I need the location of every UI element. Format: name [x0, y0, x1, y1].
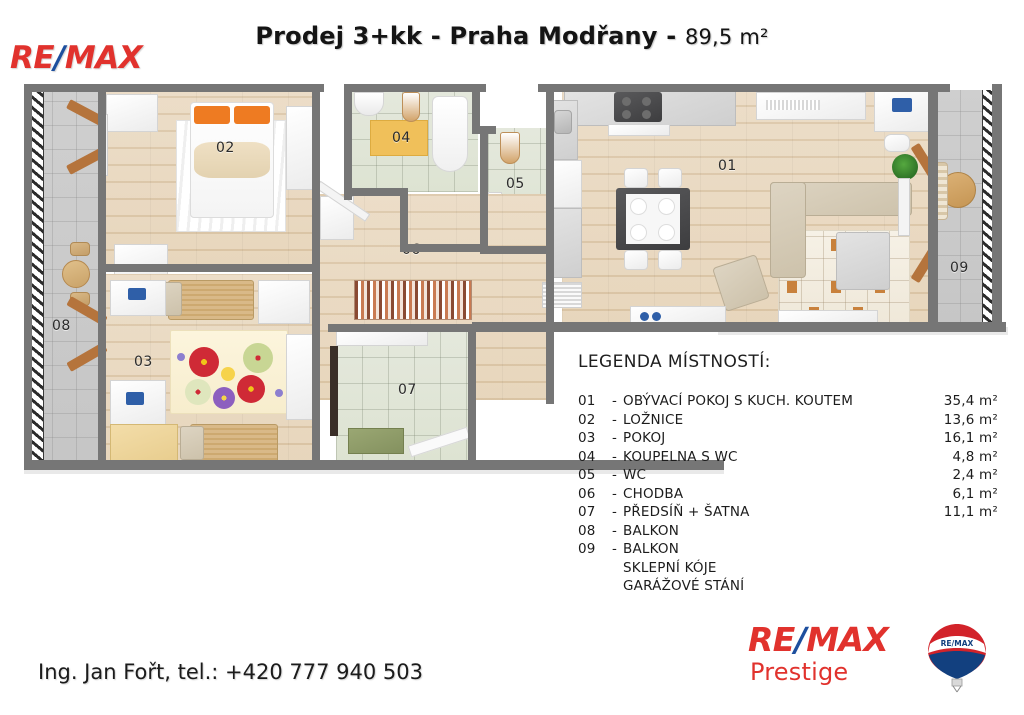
- dining-chair-4: [658, 250, 682, 270]
- wall-05-bottom: [480, 246, 554, 254]
- rug-flower-red-1: [189, 347, 219, 377]
- legend-extra-line: SKLEPNÍ KÓJE: [578, 559, 998, 578]
- balloon-label: RE/MAX: [941, 639, 974, 648]
- dining-chair-2: [658, 168, 682, 188]
- legend-extra-line: GARÁŽOVÉ STÁNÍ: [578, 577, 998, 596]
- legend-area: 6,1 m²: [932, 485, 998, 504]
- legend-code: 01: [578, 392, 612, 411]
- room-03-monitor-top: [128, 288, 146, 300]
- wall-utility-left: [400, 188, 408, 252]
- cooktop: [614, 92, 662, 122]
- cooktop-burner-4: [642, 110, 651, 119]
- wall-04-left: [344, 84, 352, 200]
- contact-line: Ing. Jan Fořt, tel.: +420 777 940 503: [38, 660, 423, 684]
- legend-dash: -: [612, 466, 623, 485]
- room-03-wardrobe-b: [286, 334, 314, 420]
- rug-dot-2: [275, 389, 283, 397]
- legend-row: 04 - KOUPELNA S WC 4,8 m²: [578, 448, 998, 467]
- balcony-08-table: [62, 260, 90, 288]
- rug-flower-yellow: [221, 367, 235, 381]
- remax-logo-slash: /: [54, 40, 65, 76]
- legend-dash: -: [612, 522, 623, 541]
- legend-row: 03 - POKOJ 16,1 m²: [578, 429, 998, 448]
- legend-name: KOUPELNA S WC: [623, 448, 932, 467]
- coffee-table: [836, 232, 890, 290]
- wall-02-03: [104, 264, 316, 272]
- legend-name: OBÝVACÍ POKOJ S KUCH. KOUTEM: [623, 392, 932, 411]
- room-label-08: 08: [52, 318, 71, 334]
- room-03-rug: [170, 330, 288, 414]
- legend-dash: -: [612, 411, 623, 430]
- wall-balcony-08-inner: [98, 84, 106, 470]
- bed-02-pillow-left: [194, 106, 230, 124]
- wall-05-left: [480, 126, 488, 254]
- legend-code: 08: [578, 522, 612, 541]
- wall-07-top: [328, 324, 476, 332]
- rug-flower-red-2: [237, 375, 265, 403]
- dining-plate-2: [658, 198, 675, 215]
- remax-bottom-part2: MAX: [806, 620, 888, 659]
- wall-outer-top-left: [24, 84, 324, 92]
- floorplan-page: Prodej 3+kk - Praha Modřany - 89,5 m² RE…: [0, 0, 1024, 715]
- bathtub: [432, 96, 468, 172]
- living-floor-dot-1: [640, 312, 649, 321]
- legend-dash: -: [612, 429, 623, 448]
- entry-mat: [348, 428, 404, 454]
- cooktop-burner-3: [622, 110, 631, 119]
- remax-logo-part1: RE: [10, 40, 54, 76]
- legend-area: 11,1 m²: [932, 503, 998, 522]
- rug-flower-green-1: [243, 343, 273, 373]
- room-label-07: 07: [398, 382, 417, 398]
- legend-row: 05 - WC 2,4 m²: [578, 466, 998, 485]
- remax-prestige-logo: RE/MAX Prestige RE/MAX: [748, 618, 1010, 696]
- wall-living-bottom: [472, 322, 724, 332]
- remax-logo-part2: MAX: [65, 40, 142, 76]
- legend-row: 07 - PŘEDSÍŇ + ŠATNA 11,1 m²: [578, 503, 998, 522]
- bed-02-pillow-right: [234, 106, 270, 124]
- legend-name: BALKON: [623, 522, 932, 541]
- legend-row: 01 - OBÝVACÍ POKOJ S KUCH. KOUTEM 35,4 m…: [578, 392, 998, 411]
- room-label-03: 03: [134, 354, 153, 370]
- remax-bottom-part1: RE: [748, 620, 795, 659]
- rug-flower-purple: [213, 387, 235, 409]
- wall-outer-right: [992, 84, 1002, 332]
- page-title-area: 89,5 m²: [685, 25, 769, 49]
- legend-area: [932, 540, 998, 559]
- legend-dash: -: [612, 540, 623, 559]
- balcony-08-stool-top: [70, 242, 90, 256]
- room-label-01: 01: [718, 158, 737, 174]
- legend-name: LOŽNICE: [623, 411, 932, 430]
- kitchen-sink-bowl: [554, 110, 572, 134]
- room-label-04: 04: [392, 130, 411, 146]
- sofa-chaise: [770, 182, 806, 278]
- room-03-pillow-bottom: [180, 426, 204, 460]
- dining-plate-4: [658, 224, 675, 241]
- remax-bottom-slash: /: [795, 620, 806, 659]
- bathroom-toilet: [402, 92, 420, 122]
- dining-plate-3: [630, 224, 647, 241]
- wall-07-right: [468, 324, 476, 470]
- wall-left-block-right: [312, 84, 320, 470]
- remax-prestige-subtitle: Prestige: [750, 658, 848, 686]
- wall-outer-left: [24, 84, 32, 470]
- legend-code: 06: [578, 485, 612, 504]
- legend-area: [932, 522, 998, 541]
- legend-row: 06 - CHODBA 6,1 m²: [578, 485, 998, 504]
- hallway-striped-rug: [354, 280, 472, 320]
- entry-shelf: [336, 330, 428, 346]
- room-03-wardrobe-a: [258, 280, 310, 324]
- legend-code: 02: [578, 411, 612, 430]
- room-label-09: 09: [950, 260, 969, 276]
- dining-chair-3: [624, 250, 648, 270]
- legend-dash: -: [612, 392, 623, 411]
- legend-code: 03: [578, 429, 612, 448]
- legend-row: 09 - BALKON: [578, 540, 998, 559]
- legend-name: WC: [623, 466, 932, 485]
- legend-code: 04: [578, 448, 612, 467]
- dining-plate-1: [630, 198, 647, 215]
- legend-name: BALKON: [623, 540, 932, 559]
- rug-motif-4: [787, 281, 797, 293]
- remax-balloon-icon: RE/MAX: [924, 622, 990, 694]
- wall-outer-top-living: [538, 84, 950, 92]
- bedroom-dresser: [106, 94, 158, 132]
- cooktop-burner-1: [622, 97, 631, 106]
- legend-area: 35,4 m²: [932, 392, 998, 411]
- entry-wardrobe-dark: [330, 346, 338, 436]
- room-03-monitor-bottom: [126, 392, 144, 405]
- remax-logo-top: RE/MAX: [10, 40, 142, 76]
- legend-code: 05: [578, 466, 612, 485]
- page-title: Prodej 3+kk - Praha Modřany - 89,5 m²: [0, 22, 1024, 50]
- legend-row: 08 - BALKON: [578, 522, 998, 541]
- legend-area: 2,4 m²: [932, 466, 998, 485]
- rug-flower-green-2: [185, 379, 211, 405]
- wall-outer-top-bath: [344, 84, 486, 92]
- living-balcony-window: [898, 178, 910, 236]
- room-03-chest: [110, 424, 178, 462]
- legend-code: 09: [578, 540, 612, 559]
- room-label-05: 05: [506, 176, 525, 192]
- living-monitor: [892, 98, 912, 112]
- wall-outer-bottom-right: [716, 322, 1006, 332]
- legend-dash: -: [612, 485, 623, 504]
- legend-area: 13,6 m²: [932, 411, 998, 430]
- tv-console-detail: [766, 100, 820, 110]
- oven-front: [608, 124, 670, 136]
- wall-hall-right: [546, 254, 554, 404]
- living-floor-dot-2: [652, 312, 661, 321]
- legend-row: 02 - LOŽNICE 13,6 m²: [578, 411, 998, 430]
- legend-name: PŘEDSÍŇ + ŠATNA: [623, 503, 932, 522]
- legend-name: POKOJ: [623, 429, 932, 448]
- wall-04-bottom-left: [344, 188, 406, 196]
- living-plant: [892, 154, 918, 180]
- rug-dot-1: [177, 353, 185, 361]
- room-label-02: 02: [216, 140, 235, 156]
- legend: LEGENDA MÍSTNOSTÍ: 01 - OBÝVACÍ POKOJ S …: [578, 352, 998, 596]
- legend-code: 07: [578, 503, 612, 522]
- wall-balcony-09-inner: [928, 84, 938, 332]
- legend-dash: -: [612, 503, 623, 522]
- legend-area: 4,8 m²: [932, 448, 998, 467]
- legend-dash: -: [612, 448, 623, 467]
- legend-heading: LEGENDA MÍSTNOSTÍ:: [578, 352, 998, 372]
- wc-toilet: [500, 132, 520, 164]
- dining-chair-1: [624, 168, 648, 188]
- legend-name: CHODBA: [623, 485, 932, 504]
- page-title-main: Prodej 3+kk - Praha Modřany -: [255, 22, 685, 50]
- cooktop-burner-2: [642, 97, 651, 106]
- remax-logo-bottom-text: RE/MAX: [748, 620, 888, 659]
- living-desk-chair: [884, 134, 910, 152]
- wall-utility-bottom: [400, 244, 480, 252]
- legend-area: 16,1 m²: [932, 429, 998, 448]
